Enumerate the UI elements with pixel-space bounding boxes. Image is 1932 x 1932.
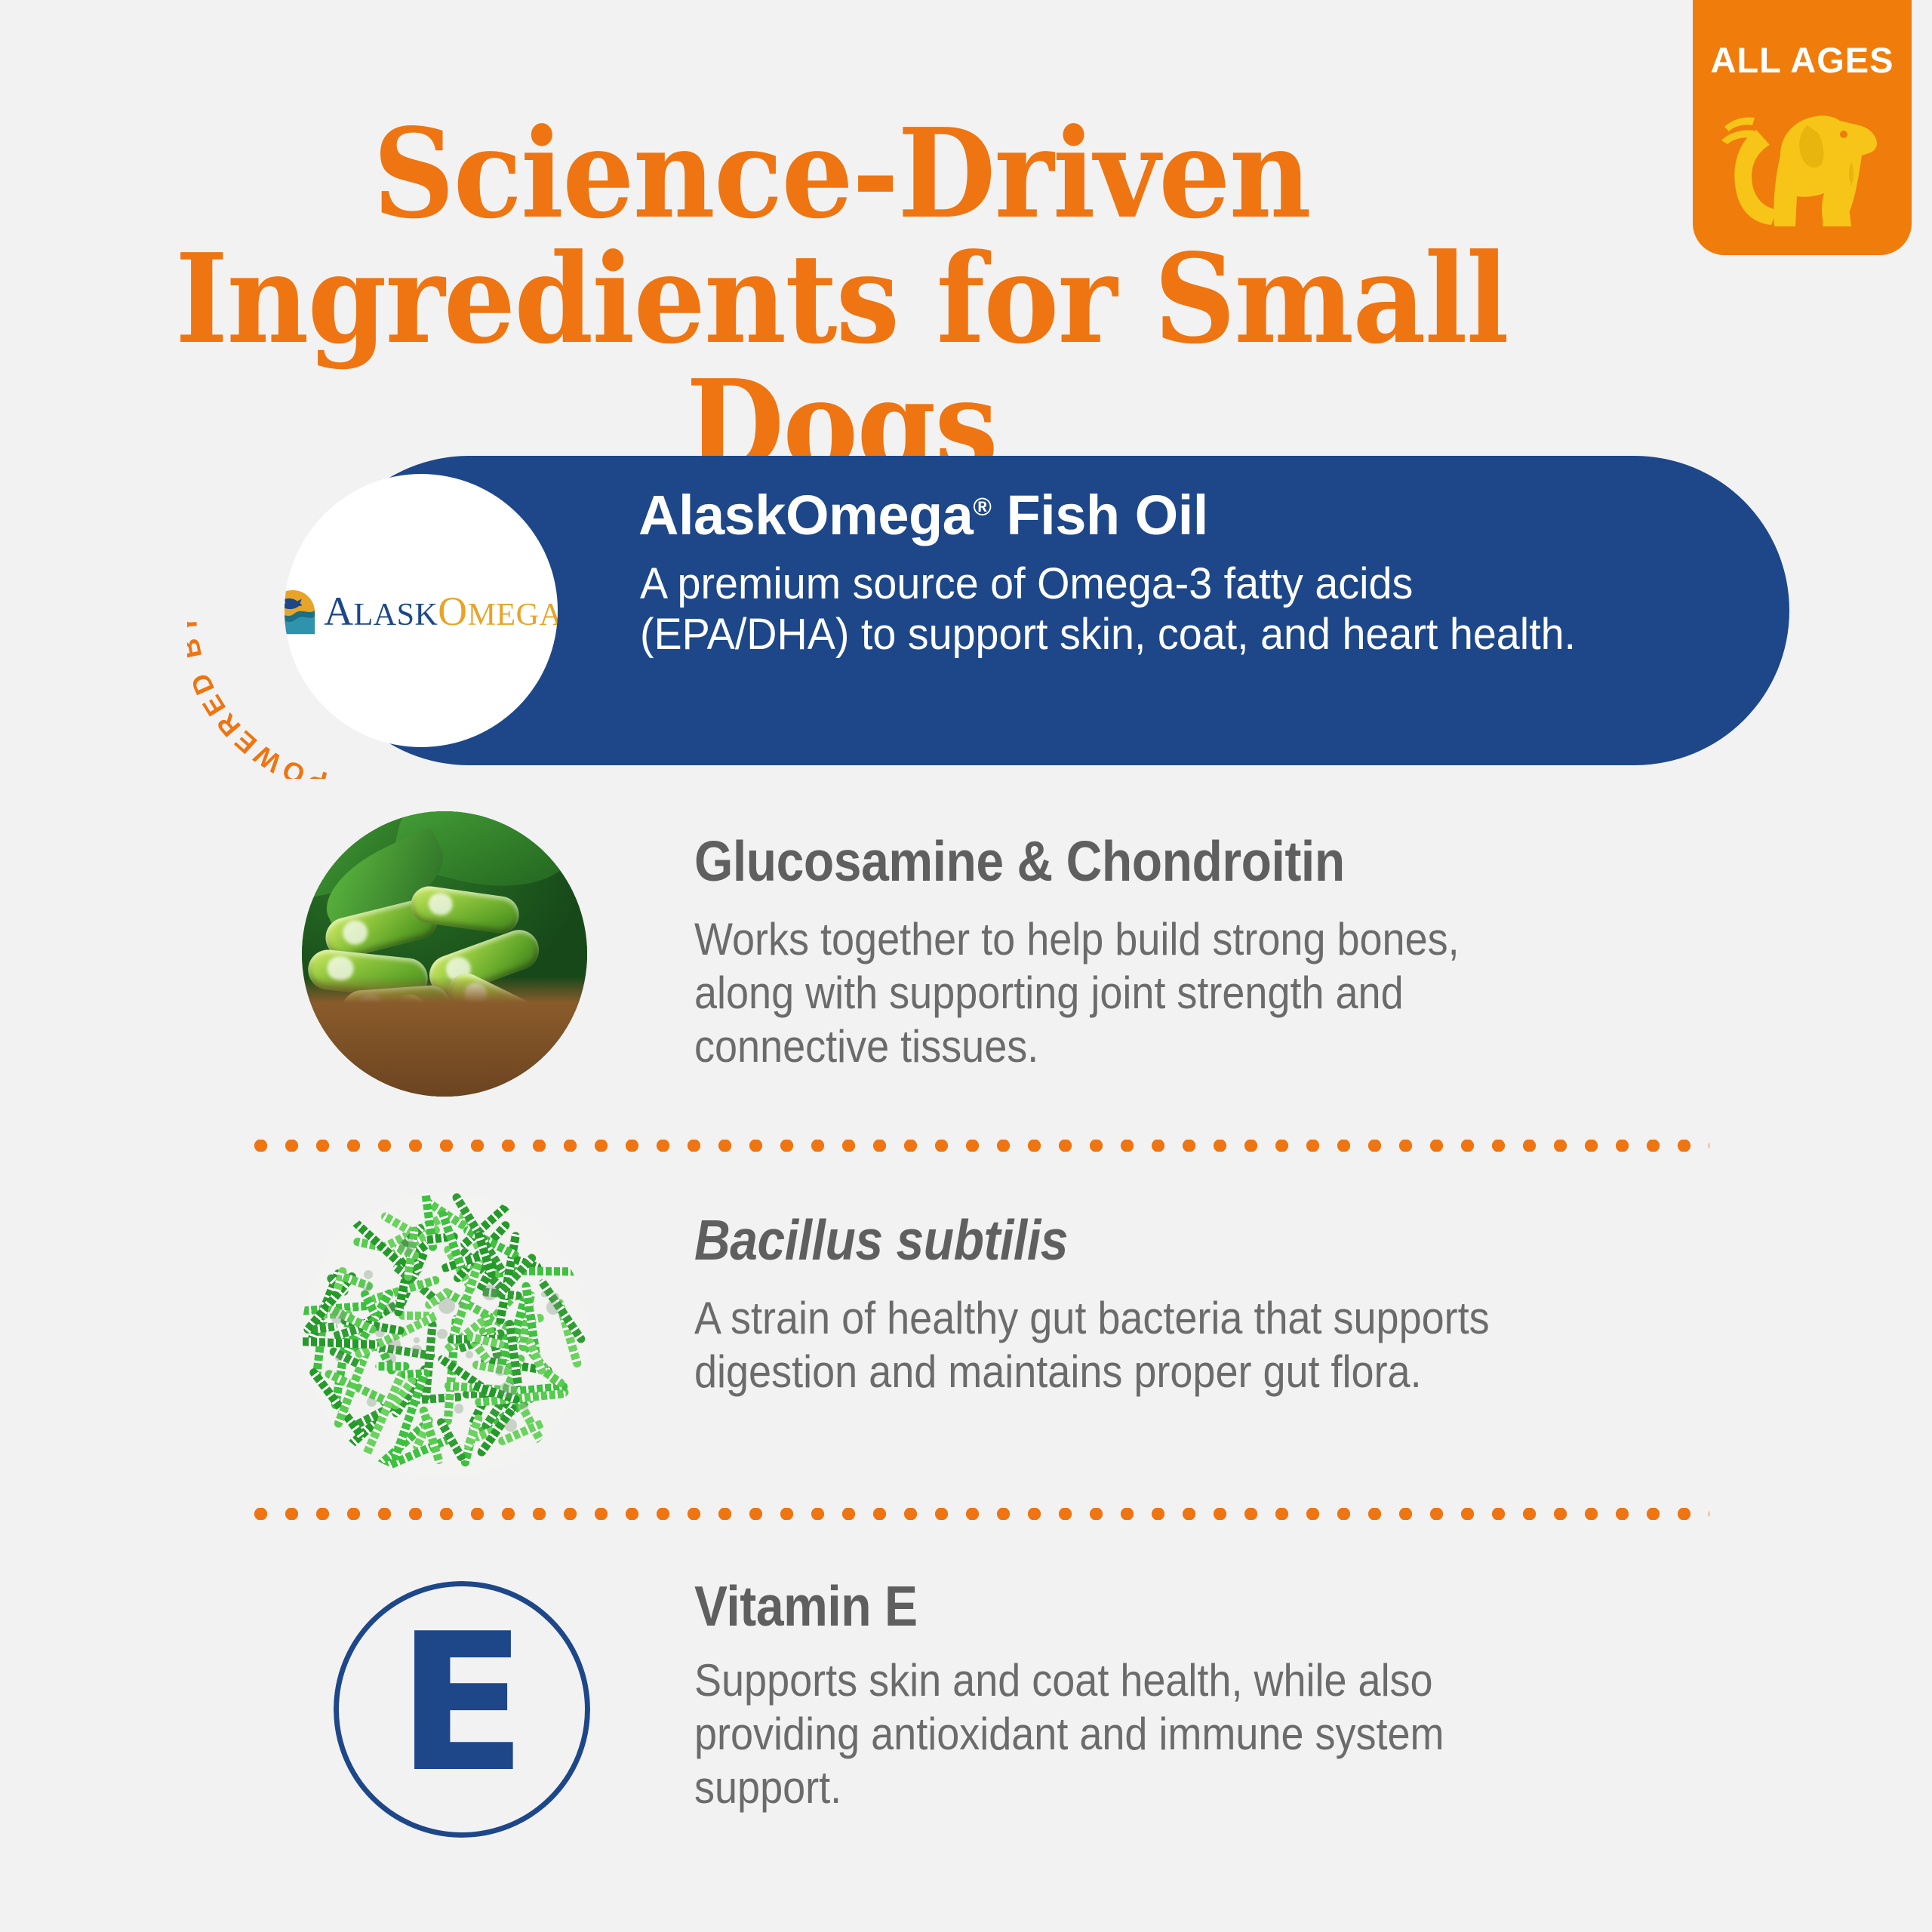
registered-mark: ®	[973, 493, 991, 521]
alaskomega-wordmark: ALASKOMEGA®	[324, 592, 558, 632]
infographic-page: ALL AGES Science-Driven	[0, 0, 1932, 1932]
ingredient-body: A strain of healthy gut bacteria that su…	[694, 1292, 1550, 1399]
featured-card-body: A premium source of Omega-3 fatty acids …	[640, 558, 1604, 660]
all-ages-badge: ALL AGES	[1693, 0, 1912, 255]
sitting-dog-icon	[1711, 83, 1898, 241]
dotted-divider	[245, 1508, 1709, 1520]
featured-card-title: AlaskOmega® Fish Oil	[638, 483, 1208, 547]
featured-card-title-main: AlaskOmega	[638, 484, 973, 546]
green-capsules-photo	[302, 811, 587, 1097]
ingredient-body: Supports skin and coat health, while als…	[694, 1654, 1550, 1814]
ingredient-title: Glucosamine & Chondroitin	[694, 829, 1345, 894]
vitamin-e-icon: E	[334, 1581, 590, 1838]
page-title: Science-Driven Ingredients for Small Dog…	[67, 112, 1616, 488]
ingredient-body: Works together to help build strong bone…	[694, 913, 1550, 1073]
bacteria-microscopy-photo	[302, 1192, 587, 1478]
page-title-line-1: Science-Driven	[67, 112, 1616, 237]
dotted-divider	[245, 1140, 1709, 1152]
featured-card-title-rest: Fish Oil	[991, 484, 1207, 546]
alaskomega-logo-plate: ALASKOMEGA®	[285, 474, 558, 747]
ingredient-title: Vitamin E	[694, 1574, 918, 1638]
alaskomega-fish-wave-icon	[285, 589, 316, 635]
all-ages-badge-label: ALL AGES	[1693, 39, 1912, 81]
vitamin-e-letter: E	[334, 1581, 590, 1838]
ingredient-title: Bacillus subtilis	[694, 1207, 1068, 1272]
